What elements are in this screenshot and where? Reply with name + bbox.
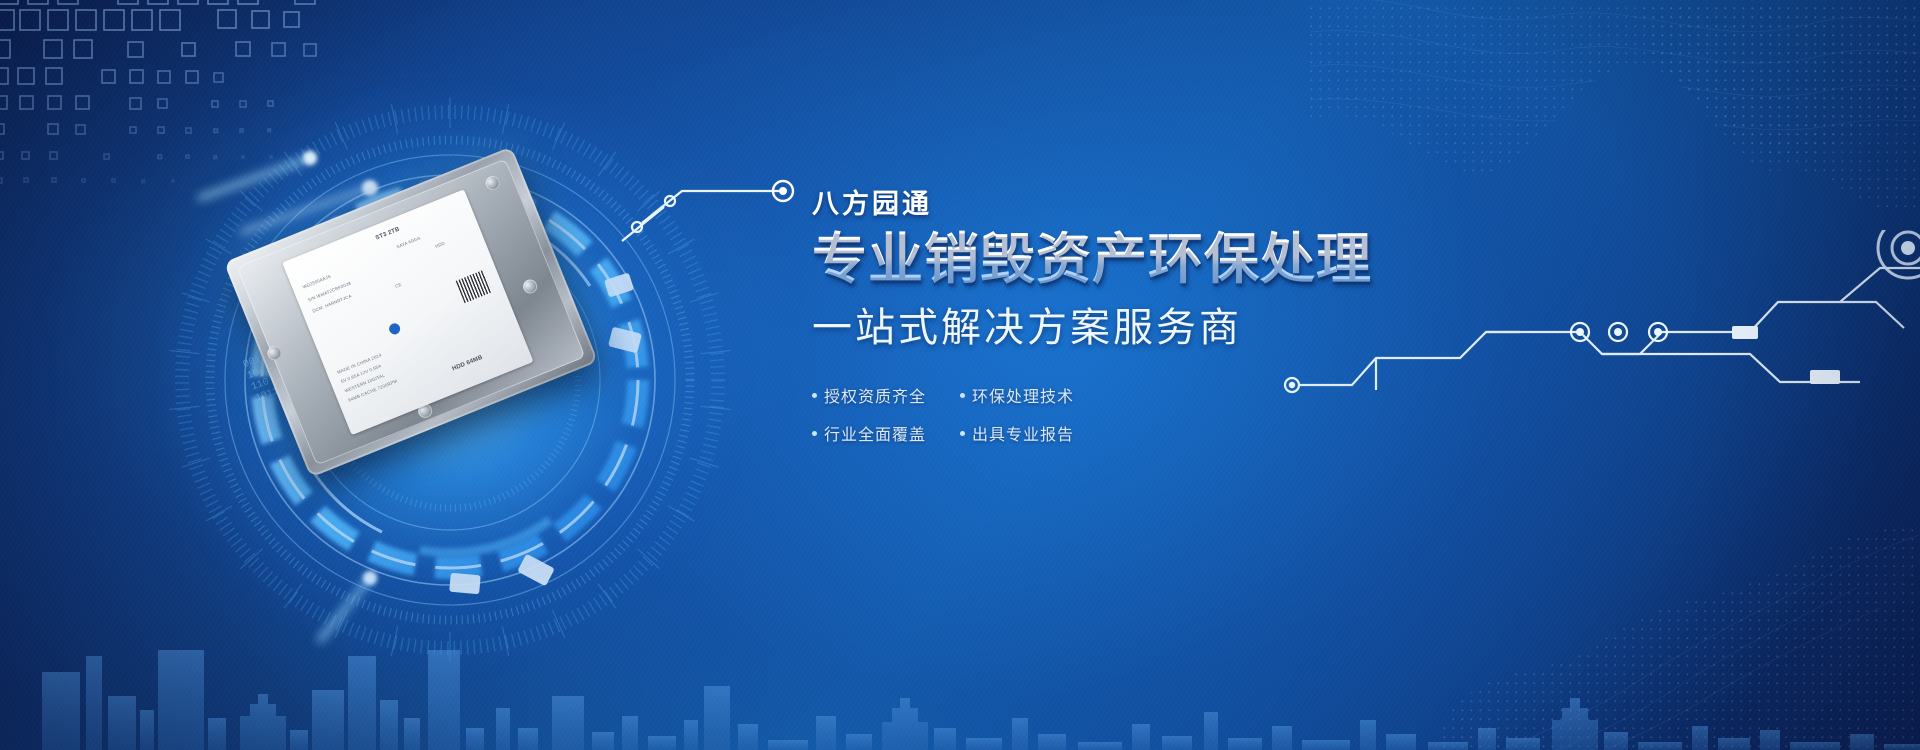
bullet-icon [812,431,817,436]
headline: 专业销毁资产环保处理 [812,230,1512,289]
feature-label: 出具专业报告 [972,421,1074,445]
hdd-barcode [456,270,493,303]
connector-node-core [779,187,787,195]
feature-item-4: 出具专业报告 [960,421,1090,445]
city-skyline-silhouette [0,600,1920,750]
hdd-label-dot [387,322,401,336]
feature-label: 授权资质齐全 [824,383,926,407]
brand-name: 八方园通 [812,182,1512,221]
bullet-icon [812,393,817,398]
connector-line [620,155,840,245]
feature-item-2: 环保处理技术 [960,383,1090,407]
banner-copy: 八方园通 专业销毁资产环保处理 一站式解决方案服务商 授权资质齐全 环保处理技术… [812,182,1512,445]
feature-item-1: 授权资质齐全 [812,383,942,407]
bullet-icon [960,393,965,398]
feature-label: 行业全面覆盖 [824,421,926,445]
feature-label: 环保处理技术 [972,383,1074,407]
promo-banner: 0010 1001 1001 100 1001: 1011 0010 01 11… [0,0,1920,750]
bullet-icon [960,431,965,436]
feature-item-3: 行业全面覆盖 [812,421,942,445]
feature-list: 授权资质齐全 环保处理技术 行业全面覆盖 出具专业报告 [812,383,1512,445]
sub-headline: 一站式解决方案服务商 [812,295,1512,353]
